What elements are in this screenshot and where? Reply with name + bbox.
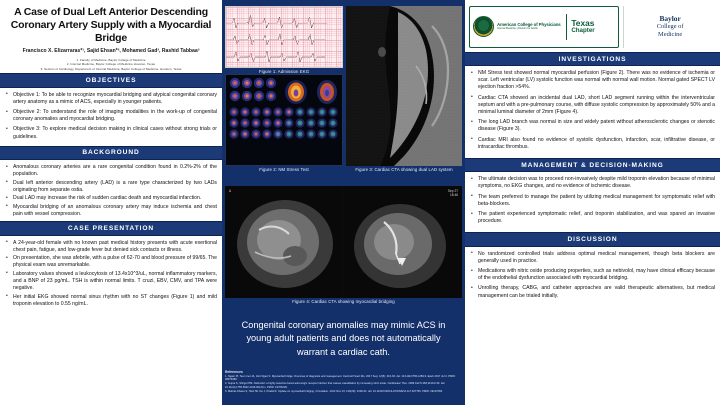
cta-panel-a: A: [225, 186, 344, 298]
figure-3-caption: Figure 3: Cardiac CTA showing dual LAD s…: [346, 166, 462, 172]
list-item: On presentation, she was afebrile, with …: [4, 255, 217, 269]
acp-logo: American College of Physicians Internal …: [469, 6, 619, 48]
figure-3-cta-sagittal: Figure 3: Cardiac CTA showing dual LAD s…: [346, 6, 462, 172]
reference-entry: 3. Mahtar-Khana S, Hoel SF, De J, Khalid…: [225, 390, 462, 394]
list-item: Dual left anterior descending artery (LA…: [4, 180, 217, 194]
list-item: NM Stress test showed normal myocardial …: [469, 70, 715, 91]
list-item: Dual LAD may increase the risk of sudden…: [4, 195, 217, 202]
baylor-line-3: Medicine: [658, 31, 682, 38]
scan-marker-label: Sep 27 15:46: [448, 189, 458, 197]
list-item: Cardiac MRI also found no evidence of sy…: [469, 137, 715, 151]
section-header-investigations: INVESTIGATIONS: [465, 52, 720, 66]
right-column: American College of Physicians Internal …: [465, 0, 720, 405]
section-header-case-presentation: CASE PRESENTATION: [0, 221, 222, 235]
ekg-grid-bold: [226, 7, 342, 67]
objectives-list: Objective 1: To be able to recognize myo…: [0, 90, 222, 146]
list-item: The patient experienced symptomatic reli…: [469, 211, 715, 225]
title-block: A Case of Dual Left Anterior Descending …: [0, 0, 222, 73]
acp-chapter-label: Chapter: [571, 28, 594, 35]
section-header-background: BACKGROUND: [0, 146, 222, 160]
investigations-list: NM Stress test showed normal myocardial …: [465, 68, 720, 156]
list-item: Objective 2: To understand the role of i…: [4, 109, 217, 123]
logo-divider: [566, 14, 567, 40]
list-item: Laboratory values showed a leukocytosis …: [4, 271, 217, 292]
cta-panel-b: Sep 27 15:46: [344, 186, 463, 298]
list-item: A 24-year-old female with no known past …: [4, 240, 217, 254]
case-presentation-list: A 24-year-old female with no known past …: [0, 238, 222, 312]
scan-label-a: A: [229, 189, 231, 193]
figure-4-caption: Figure 4: Cardiac CTA showing myocardial…: [225, 298, 462, 304]
figure-4-cta-bridging: A Sep 27 15:46 Figure 4: Cardiac CTA: [225, 186, 462, 304]
references-block: References 1. Ngam PI, Teen met JA, Gim …: [225, 370, 462, 393]
baylor-line-1: Baylor: [659, 15, 680, 24]
left-column: A Case of Dual Left Anterior Descending …: [0, 0, 222, 405]
middle-column-figures: Figure 1: Admission EKG: [222, 0, 465, 405]
key-message-banner: Congenital coronary anomalies may mimic …: [222, 310, 465, 368]
management-list: The ultimate decision was to proceed non…: [465, 174, 720, 230]
affiliation-list: 1. Faculty of Medicine, Baylor College o…: [8, 58, 214, 72]
references-title: References: [225, 370, 462, 374]
section-header-objectives: OBJECTIVES: [0, 73, 222, 87]
key-message-text: Congenital coronary anomalies may mimic …: [230, 319, 457, 359]
list-item: Cardiac CTA showed an incidental dual LA…: [469, 95, 715, 116]
acp-tagline: Internal Medicine | Doctors for Adults: [497, 28, 561, 31]
discussion-list: No randomized controlled trials address …: [465, 249, 720, 305]
cta-sagittal-image: [346, 6, 462, 166]
cta-bridging-image: A Sep 27 15:46: [225, 186, 462, 298]
list-item: The long LAD branch was normal in size a…: [469, 119, 715, 133]
nm-stress-image: [225, 74, 343, 166]
list-item: Unrolling therapy, CABG, and catheter ap…: [469, 285, 715, 299]
affiliation-3: 3. Section of Cardiology, Department of …: [8, 67, 214, 72]
list-item: Objective 1: To be able to recognize myo…: [4, 92, 217, 106]
acp-seal-icon: [473, 16, 494, 37]
ekg-image: [225, 6, 343, 68]
list-item: Her initial EKG showed normal sinus rhyt…: [4, 294, 217, 308]
list-item: Medications with nitric oxide producing …: [469, 268, 715, 282]
list-item: The team preferred to manage the patient…: [469, 194, 715, 208]
list-item: Myocardial bridging of an anomalous coro…: [4, 204, 217, 218]
section-header-management: MANAGEMENT & DECISION-MAKING: [465, 158, 720, 172]
list-item: The ultimate decision was to proceed non…: [469, 176, 715, 190]
page-title: A Case of Dual Left Anterior Descending …: [8, 6, 214, 45]
list-item: Objective 3: To explore medical decision…: [4, 126, 217, 140]
acp-wordmark: American College of Physicians Internal …: [497, 23, 561, 31]
baylor-logo: Baylor College of Medicine: [623, 6, 716, 48]
cta-sagittal-render: [346, 6, 462, 166]
figure-2-caption: Figure 2: NM Stress Test: [225, 166, 343, 172]
reference-entry: 2. Gupta S, Shirgul HM. Nebivolol: a hig…: [225, 382, 462, 389]
list-item: Anomalous coronary arteries are a rare c…: [4, 164, 217, 178]
nm-perfusion-panels: [226, 75, 343, 166]
logo-bar: American College of Physicians Internal …: [465, 0, 720, 50]
background-list: Anomalous coronary arteries are a rare c…: [0, 162, 222, 221]
list-item: No randomized controlled trials address …: [469, 251, 715, 265]
cta-panel-b-render: [344, 186, 462, 298]
cta-panel-a-render: [225, 186, 343, 298]
acp-chapter-block: Texas Chapter: [571, 19, 594, 34]
figure-1-ekg: Figure 1: Admission EKG: [225, 6, 343, 74]
figure-2-nm-stress: Figure 2: NM Stress Test: [225, 74, 343, 172]
section-header-discussion: DISCUSSION: [465, 232, 720, 246]
baylor-line-2: College of: [657, 23, 684, 30]
poster-root: A Case of Dual Left Anterior Descending …: [0, 0, 720, 405]
author-list: Francisco X. Elizarraras*¹, Sajid Ehsan*…: [8, 48, 214, 55]
